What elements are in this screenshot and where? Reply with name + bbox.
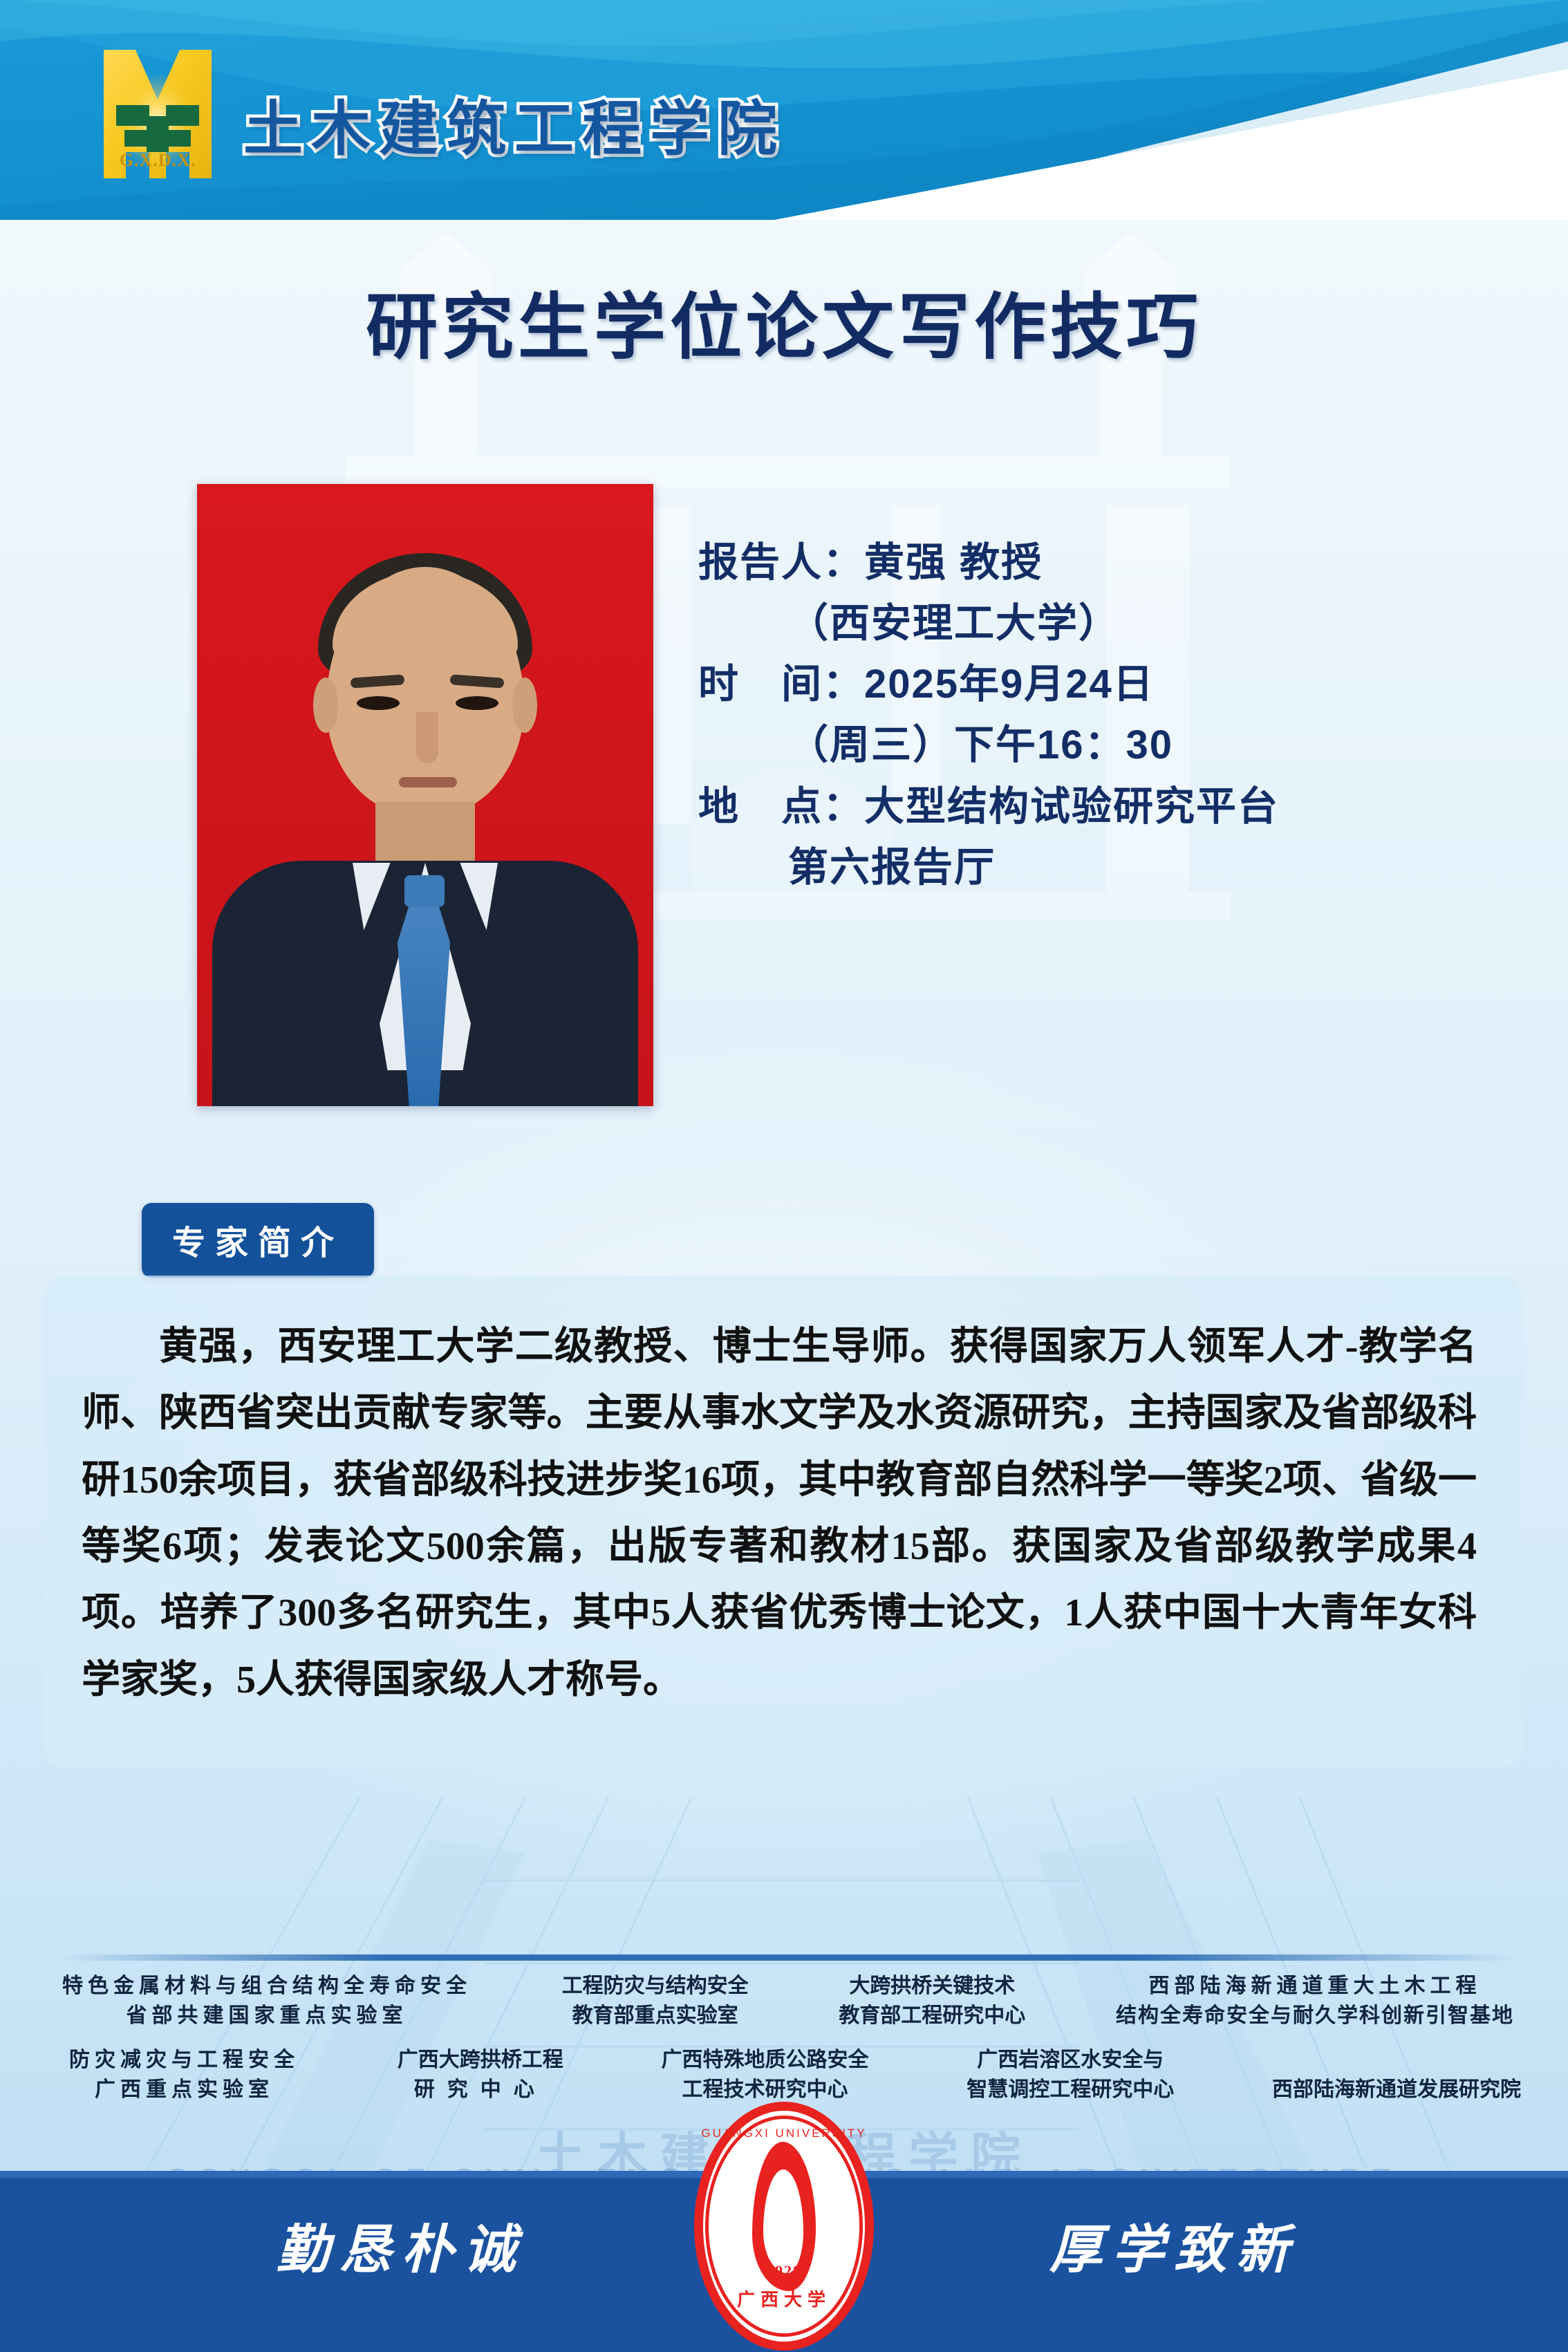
- lab-item: 防灾减灾与工程安全 广西重点实验室: [69, 2046, 299, 2104]
- lab-item: 大跨拱桥关键技术 教育部工程研究中心: [839, 1972, 1025, 2031]
- motto-left: 勤恳朴诚: [277, 2207, 525, 2283]
- lab-line-1: 防灾减灾与工程安全: [69, 2046, 299, 2075]
- seal-year-text: 1928: [694, 2262, 874, 2280]
- bio-paragraph: 黄强，西安理工大学二级教授、博士生导师。获得国家万人领军人才-教学名师、陕西省突…: [82, 1314, 1477, 1713]
- affiliated-labs-list: 特色金属材料与组合结构全寿命安全 省部共建国家重点实验室 工程防灾与结构安全 教…: [62, 1972, 1514, 2104]
- university-seal-icon: GUANGXI UNIVERSITY 1928 广西大学: [694, 2102, 874, 2351]
- lab-line-1: 大跨拱桥关键技术: [839, 1972, 1025, 2001]
- lab-line-1: 广西岩溶区水安全与: [967, 2046, 1174, 2075]
- speaker-portrait-photo: [197, 484, 653, 1106]
- bottom-motto-bar: 勤恳朴诚 厚学致新 GUANGXI UNIVERSITY 1928 广西大学: [0, 2171, 1568, 2352]
- logo-initials-text: G.X.D.X.: [120, 150, 196, 170]
- college-name-heading: 土木建筑工程学院: [243, 80, 785, 167]
- lab-line-2: 智慧调控工程研究中心: [967, 2075, 1174, 2105]
- logo-svg: G.X.D.X.: [88, 48, 227, 180]
- motto-right: 厚学致新: [1049, 2207, 1298, 2283]
- lab-item: 广西特殊地质公路安全 工程技术研究中心: [662, 2046, 869, 2104]
- footer-divider: [62, 1954, 1514, 1961]
- lab-line-1: 特色金属材料与组合结构全寿命安全: [62, 1972, 472, 2001]
- speaker-line: 报告人：黄强 教授: [698, 532, 1500, 593]
- lab-line-2: 教育部重点实验室: [562, 2001, 749, 2031]
- labs-row-2: 防灾减灾与工程安全 广西重点实验室 广西大跨拱桥工程 研究中心 广西特殊地质公路…: [62, 2046, 1521, 2104]
- lab-line-1: 西部陆海新通道重大土木工程: [1116, 1972, 1514, 2001]
- lab-item: 工程防灾与结构安全 教育部重点实验室: [562, 1972, 749, 2031]
- affiliation-line: （西安理工大学）: [698, 593, 1500, 654]
- lab-line-2: 结构全寿命安全与耐久学科创新引智基地: [1116, 2001, 1514, 2031]
- lab-line-1: 西部陆海新通道发展研究院: [1272, 2075, 1521, 2105]
- lab-item: 广西岩溶区水安全与 智慧调控工程研究中心: [967, 2046, 1174, 2104]
- place-line-2: 第六报告厅: [698, 837, 1500, 898]
- lab-line-2: 省部共建国家重点实验室: [62, 2001, 472, 2031]
- lab-item: 广西大跨拱桥工程 研究中心: [398, 2046, 563, 2104]
- lab-item: 特色金属材料与组合结构全寿命安全 省部共建国家重点实验室: [62, 1972, 472, 2031]
- lab-line-2: 广西重点实验室: [69, 2075, 299, 2105]
- poster-root: G.X.D.X. 土木建筑工程学院 研究生学位论文写作技巧 报告人：黄强 教授 …: [0, 0, 1568, 2352]
- time-line-2: （周三）下午16：30: [698, 715, 1500, 776]
- time-line: 时 间：2025年9月24日: [698, 654, 1500, 715]
- lab-line-2: 研究中心: [398, 2075, 563, 2105]
- poster-title: 研究生学位论文写作技巧: [0, 268, 1568, 373]
- lab-line-2: 教育部工程研究中心: [839, 2001, 1025, 2031]
- lab-item: 西部陆海新通道发展研究院: [1272, 2075, 1521, 2105]
- header-banner: G.X.D.X. 土木建筑工程学院: [0, 0, 1568, 220]
- place-line: 地 点：大型结构试验研究平台: [698, 776, 1500, 837]
- expert-intro-badge: 专家简介: [142, 1203, 374, 1278]
- lab-line-1: 工程防灾与结构安全: [562, 1972, 749, 2001]
- lab-line-1: 广西特殊地质公路安全: [662, 2046, 869, 2075]
- lab-line-1: 广西大跨拱桥工程: [398, 2046, 563, 2075]
- seal-chinese-text: 广西大学: [694, 2286, 874, 2311]
- event-info-block: 报告人：黄强 教授 （西安理工大学） 时 间：2025年9月24日 （周三）下午…: [698, 532, 1500, 898]
- seal-english-text: GUANGXI UNIVERSITY: [694, 2127, 874, 2140]
- university-logo-icon: G.X.D.X.: [88, 48, 227, 180]
- labs-row-1: 特色金属材料与组合结构全寿命安全 省部共建国家重点实验室 工程防灾与结构安全 教…: [62, 1972, 1514, 2031]
- lab-item: 西部陆海新通道重大土木工程 结构全寿命安全与耐久学科创新引智基地: [1116, 1972, 1514, 2031]
- lab-line-2: 工程技术研究中心: [662, 2075, 869, 2105]
